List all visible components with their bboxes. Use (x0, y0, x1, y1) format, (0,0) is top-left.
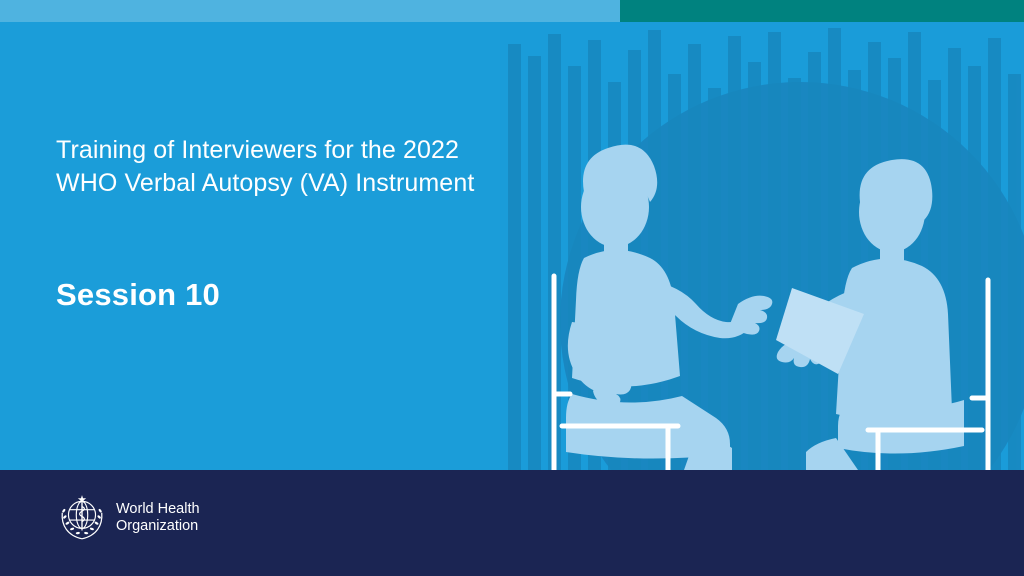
session-label: Session 10 (56, 277, 220, 313)
illustration-panel (500, 22, 1024, 470)
who-logo-line-2: Organization (116, 518, 200, 535)
slide-title: Training of Interviewers for the 2022 WH… (56, 134, 516, 200)
title-line-1: Training of Interviewers for the 2022 (56, 134, 516, 167)
slide-footer: World Health Organization (0, 470, 1024, 576)
who-logo-text: World Health Organization (116, 501, 200, 535)
slide-body: Training of Interviewers for the 2022 WH… (0, 22, 1024, 470)
slide-root: Training of Interviewers for the 2022 WH… (0, 0, 1024, 576)
who-logo-line-1: World Health (116, 501, 200, 518)
interview-illustration (500, 22, 1024, 470)
who-logo: World Health Organization (56, 492, 200, 544)
top-accent-bar-right (620, 0, 1024, 22)
title-line-2: WHO Verbal Autopsy (VA) Instrument (56, 167, 516, 200)
who-emblem-icon (56, 492, 108, 544)
top-accent-bar-left (0, 0, 620, 22)
